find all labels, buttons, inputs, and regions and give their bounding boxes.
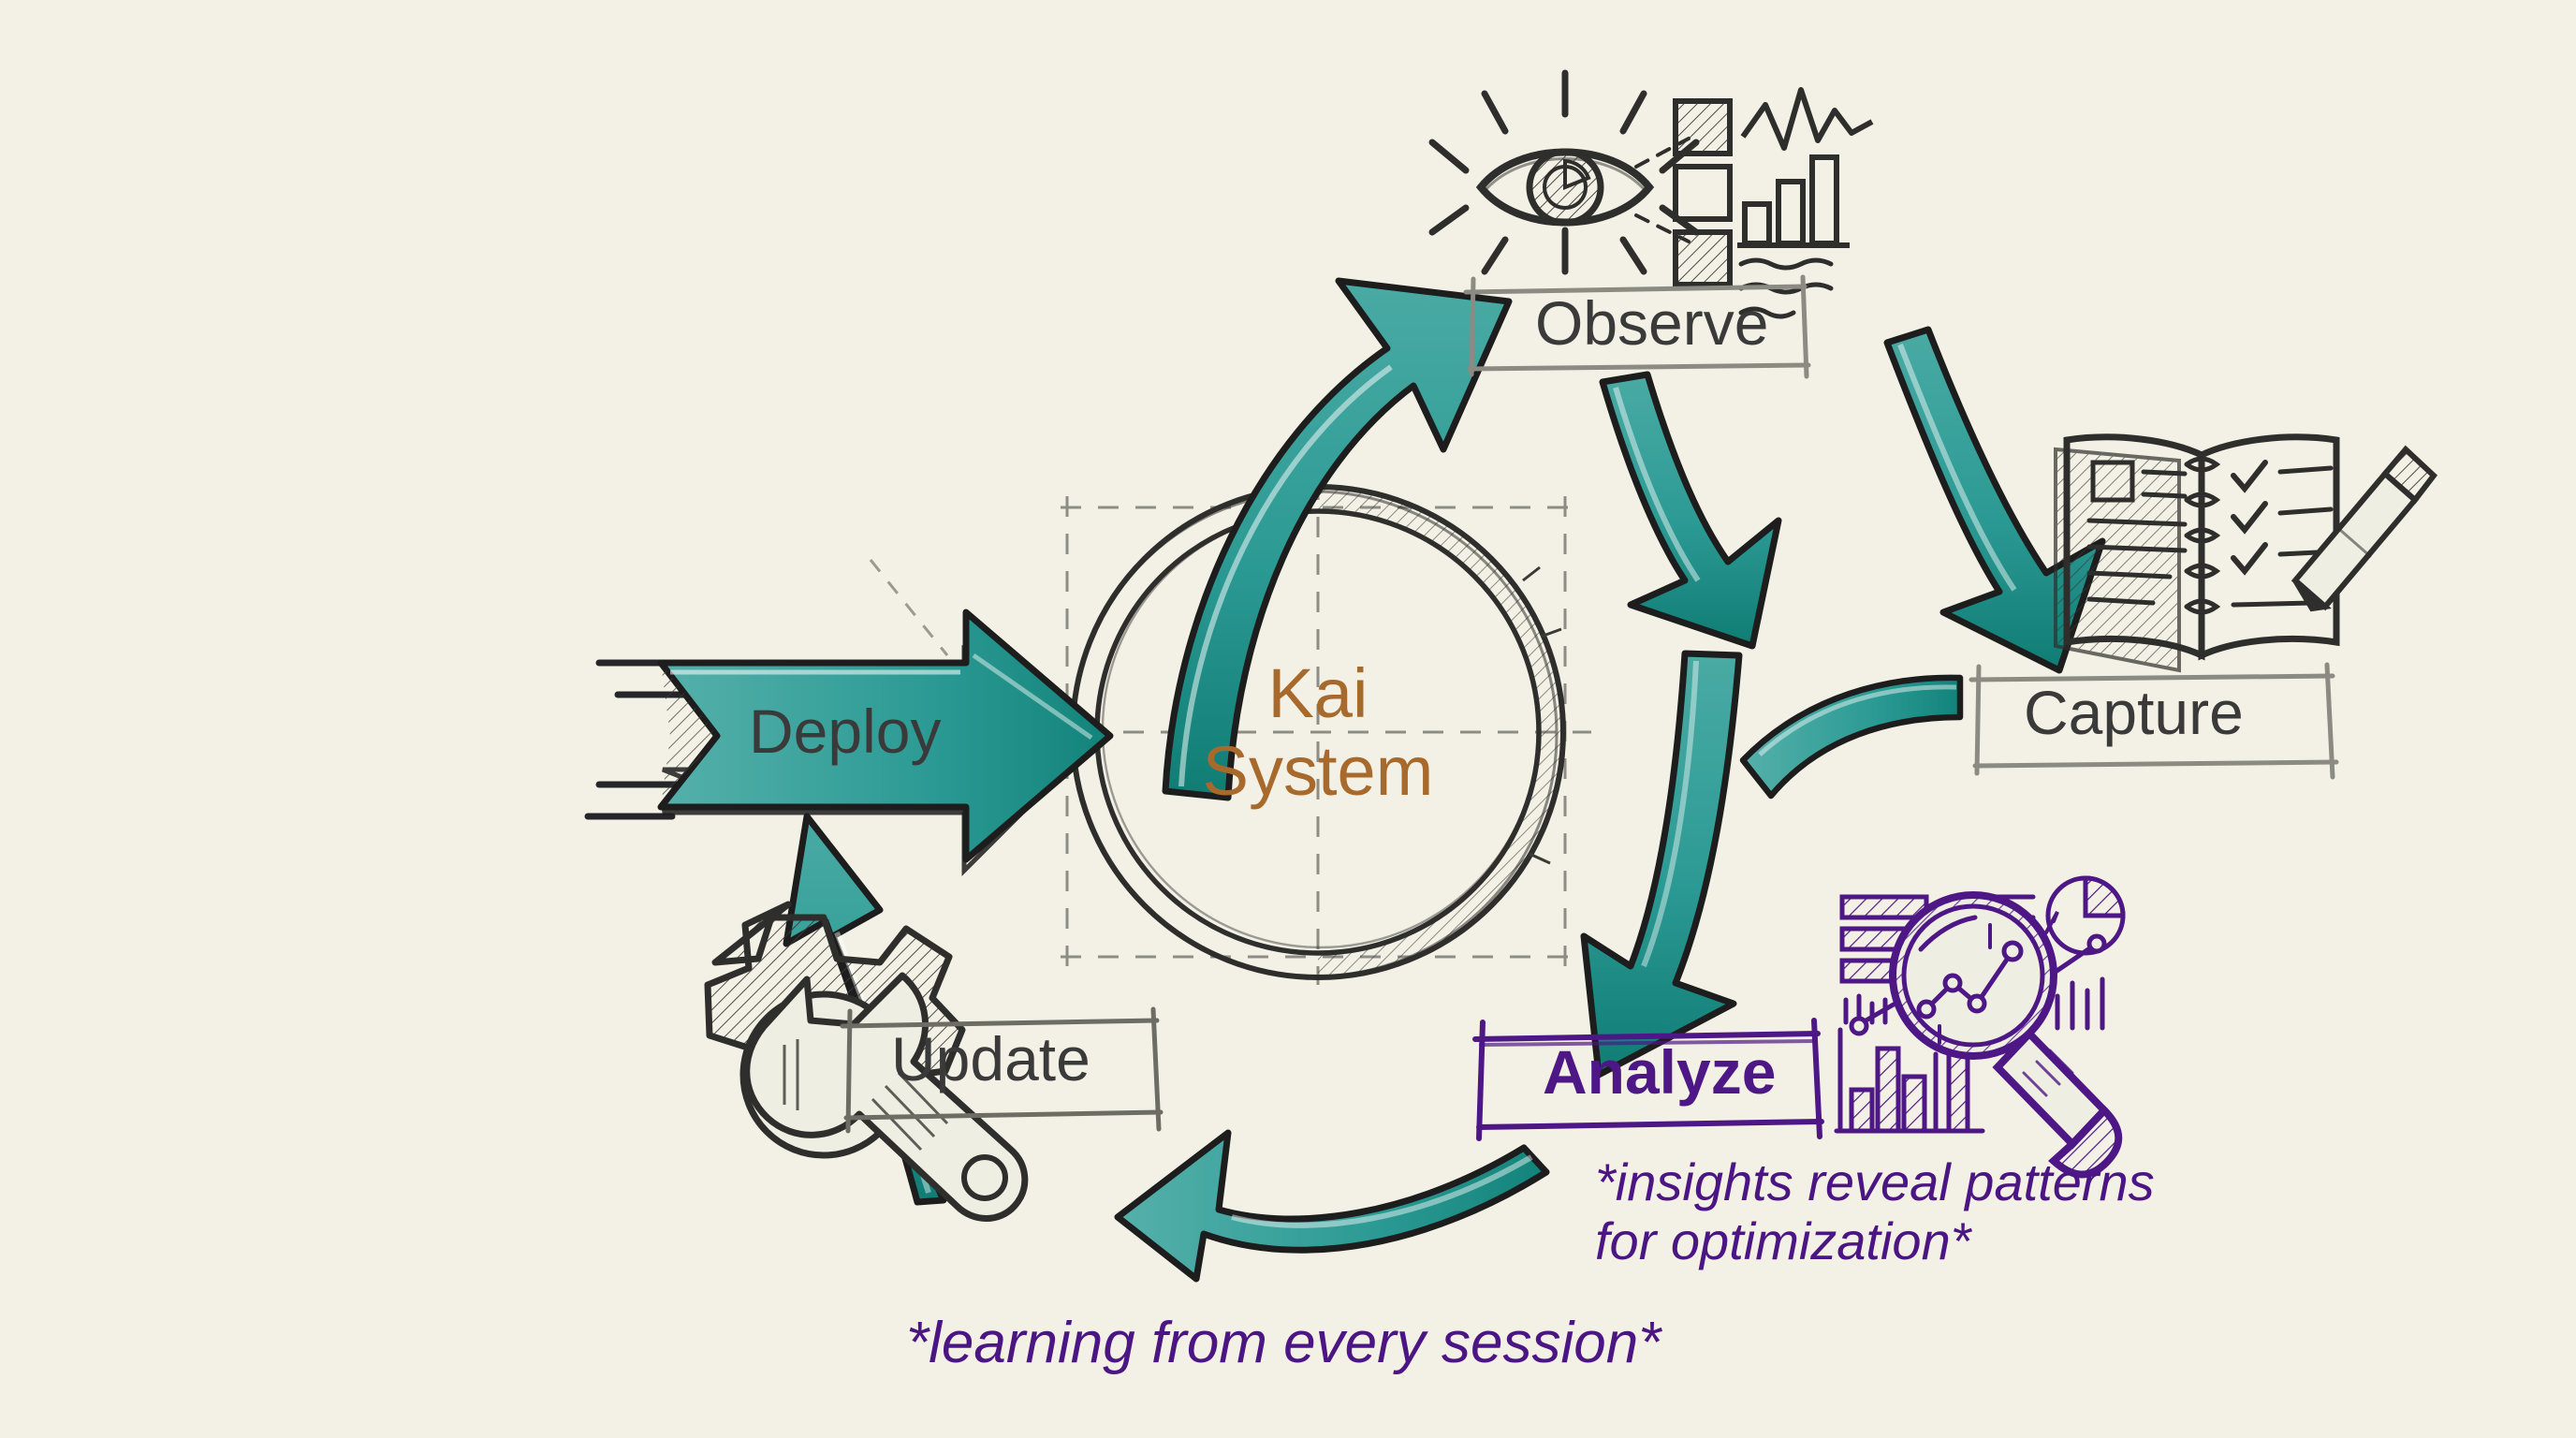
node-label-deploy[interactable]: Deploy [749,700,941,762]
analyze-annotation: *insights reveal patterns for optimizati… [1595,1153,2155,1270]
bottom-annotation: *learning from every session* [906,1311,1661,1375]
node-label-capture[interactable]: Capture [2024,682,2244,743]
diagram-canvas: Meta / Self Update System The system imp… [0,0,2576,1438]
node-label-analyze[interactable]: Analyze [1543,1041,1776,1103]
node-label-observe[interactable]: Observe [1535,292,1768,354]
node-label-update[interactable]: Update [891,1028,1090,1090]
kai-system-label: Kai System [1168,655,1468,811]
